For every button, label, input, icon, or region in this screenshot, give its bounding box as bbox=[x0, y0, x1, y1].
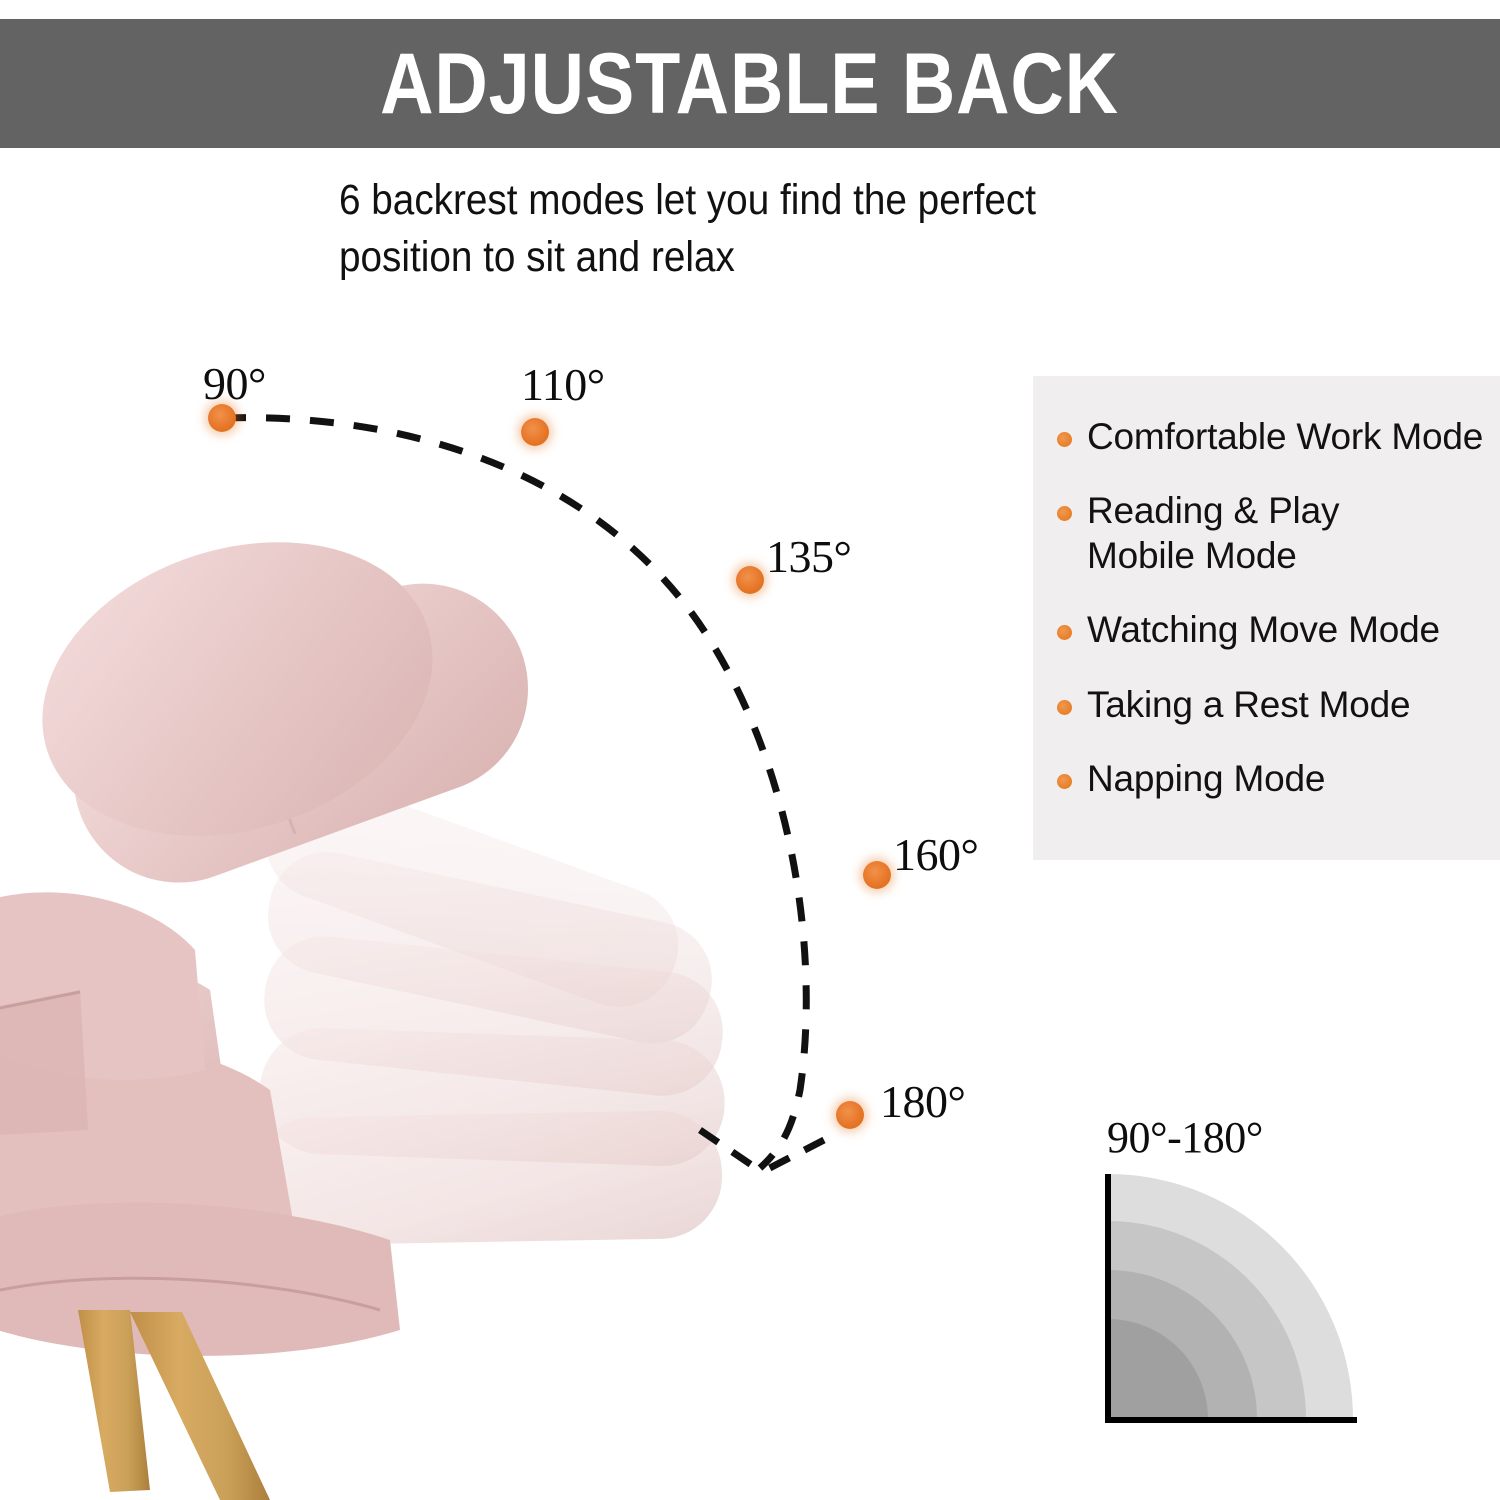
angle-marker-135-dot bbox=[736, 566, 764, 594]
angle-marker-180-dot bbox=[836, 1101, 864, 1129]
bullet-dot-icon bbox=[1057, 700, 1072, 715]
features-panel: Comfortable Work Mode Reading & Play Mob… bbox=[1033, 376, 1500, 860]
bullet-dot-icon bbox=[1057, 432, 1072, 447]
angle-label-135: 135° bbox=[766, 530, 851, 583]
feature-item: Reading & Play Mobile Mode bbox=[1057, 488, 1500, 578]
feature-label: Watching Move Mode bbox=[1087, 607, 1440, 652]
angle-range-label: 90°-180° bbox=[1107, 1112, 1263, 1163]
feature-item: Comfortable Work Mode bbox=[1057, 414, 1500, 459]
angle-marker-160-dot bbox=[863, 861, 891, 889]
feature-item: Watching Move Mode bbox=[1057, 607, 1500, 652]
bullet-dot-icon bbox=[1057, 774, 1072, 789]
angle-label-180: 180° bbox=[880, 1075, 965, 1128]
angle-range-diagram: 90°-180° bbox=[1095, 1112, 1395, 1442]
feature-label: Taking a Rest Mode bbox=[1087, 682, 1410, 727]
page-title: ADJUSTABLE BACK bbox=[381, 41, 1120, 127]
subtitle-text: 6 backrest modes let you find the perfec… bbox=[339, 172, 1149, 286]
angle-marker-110-dot bbox=[521, 418, 549, 446]
angle-arc-diagram bbox=[0, 330, 1000, 1230]
feature-label: Comfortable Work Mode bbox=[1087, 414, 1483, 459]
feature-item: Napping Mode bbox=[1057, 756, 1500, 801]
feature-label: Reading & Play Mobile Mode bbox=[1087, 488, 1339, 578]
angle-label-110: 110° bbox=[521, 358, 605, 411]
bullet-dot-icon bbox=[1057, 625, 1072, 640]
feature-label: Napping Mode bbox=[1087, 756, 1325, 801]
angle-label-90: 90° bbox=[203, 357, 266, 410]
angle-label-160: 160° bbox=[893, 828, 978, 881]
bullet-dot-icon bbox=[1057, 506, 1072, 521]
header-banner: ADJUSTABLE BACK bbox=[0, 19, 1500, 148]
feature-item: Taking a Rest Mode bbox=[1057, 682, 1500, 727]
angle-arc-path bbox=[222, 418, 806, 1168]
